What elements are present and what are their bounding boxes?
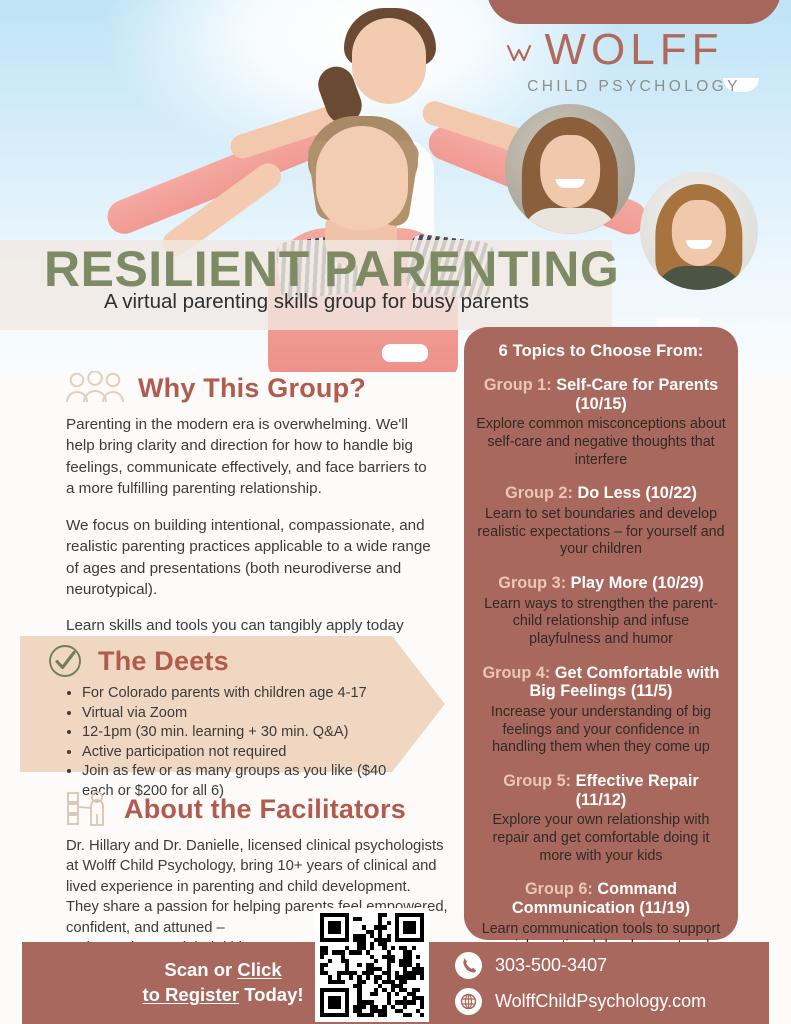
topic-name: Get Comfortable with Big Feelings (11/5) xyxy=(530,664,720,701)
checkmark-circle-icon xyxy=(46,642,84,680)
deets-list: For Colorado parents with children age 4… xyxy=(46,684,406,801)
avatar-shoulders xyxy=(522,208,618,234)
cta-line-2: to Register Today! xyxy=(128,982,318,1007)
topic-group-label: Group 2: xyxy=(505,484,573,502)
topic-description: Learn ways to strengthen the parent-chil… xyxy=(476,596,726,649)
topic-name: Do Less (10/22) xyxy=(577,484,696,502)
contact-website-row[interactable]: WolffChildPsychology.com xyxy=(455,988,706,1015)
facilitators-heading-row: About the Facilitators xyxy=(66,790,448,828)
child-head xyxy=(352,18,426,104)
topics-panel-title: 6 Topics to Choose From: xyxy=(464,342,738,361)
topic-name: Play More (10/29) xyxy=(571,574,704,592)
topic-group-label: Group 1: xyxy=(484,376,552,394)
flyer-page: WOLFF CHILD PSYCHOLOGY RESILIENT PARENTI… xyxy=(0,0,791,1024)
deets-heading-row: The Deets xyxy=(46,642,406,680)
topic-description: Explore your own relationship with repai… xyxy=(476,812,726,865)
deets-section: The Deets For Colorado parents with chil… xyxy=(46,642,406,801)
topic-heading: Group 3: Play More (10/29) xyxy=(476,574,726,593)
topic-name: Self-Care for Parents (10/15) xyxy=(556,376,718,413)
topic-description: Learn to set boundaries and develop real… xyxy=(476,506,726,559)
topic-heading: Group 2: Do Less (10/22) xyxy=(476,484,726,503)
facilitator-photo-danielle xyxy=(640,172,758,290)
page-subtitle: A virtual parenting skills group for bus… xyxy=(104,290,529,314)
list-item: Virtual via Zoom xyxy=(82,704,406,724)
topics-panel: 6 Topics to Choose From: Group 1: Self-C… xyxy=(464,327,738,940)
avatar-smile xyxy=(556,179,585,188)
topic-item-4[interactable]: Group 4: Get Comfortable with Big Feelin… xyxy=(464,664,738,757)
wolff-chevron-icon xyxy=(506,44,532,64)
cta-click-link[interactable]: Click xyxy=(237,959,281,980)
list-item: 12-1pm (30 min. learning + 30 min. Q&A) xyxy=(82,723,406,743)
topic-group-label: Group 6: xyxy=(525,880,593,898)
topic-item-5[interactable]: Group 5: Effective Repair (11/12) Explor… xyxy=(464,772,738,865)
avatar-face xyxy=(540,135,600,208)
facilitators-heading: About the Facilitators xyxy=(124,794,406,825)
topic-heading: Group 6: Command Communication (11/19) xyxy=(476,880,726,917)
why-body: Parenting in the modern era is overwhelm… xyxy=(66,414,432,658)
register-cta[interactable]: Scan or Click to Register Today! xyxy=(128,957,318,1007)
cta-scan-or: Scan or xyxy=(164,959,237,980)
topic-heading: Group 1: Self-Care for Parents (10/15) xyxy=(476,376,726,413)
topic-name: Effective Repair (11/12) xyxy=(576,772,699,809)
avatar-face xyxy=(672,200,726,266)
qr-code[interactable] xyxy=(315,908,429,1022)
why-paragraph-1: Parenting in the modern era is overwhelm… xyxy=(66,414,432,500)
mother-head xyxy=(316,126,408,230)
globe-icon xyxy=(455,988,482,1015)
cta-today: Today! xyxy=(239,984,303,1005)
why-heading-row: Why This Group? xyxy=(66,371,432,405)
topic-item-1[interactable]: Group 1: Self-Care for Parents (10/15) E… xyxy=(464,376,738,469)
logo-wordmark: WOLFF xyxy=(545,28,724,72)
phone-icon xyxy=(455,952,482,979)
list-item: For Colorado parents with children age 4… xyxy=(82,684,406,704)
topic-description: Increase your understanding of big feeli… xyxy=(476,704,726,757)
phone-number: 303-500-3407 xyxy=(495,955,607,976)
cta-register-link[interactable]: to Register xyxy=(142,984,239,1005)
wristwatch xyxy=(382,344,428,362)
page-title: RESILIENT PARENTING xyxy=(44,243,619,296)
topic-item-3[interactable]: Group 3: Play More (10/29) Learn ways to… xyxy=(464,574,738,649)
logo-tagline: CHILD PSYCHOLOGY xyxy=(500,78,768,96)
cta-line-1: Scan or Click xyxy=(128,957,318,982)
why-heading: Why This Group? xyxy=(138,373,366,404)
why-paragraph-2: We focus on building intentional, compas… xyxy=(66,515,432,601)
topic-heading: Group 5: Effective Repair (11/12) xyxy=(476,772,726,809)
list-item: Active participation not required xyxy=(82,743,406,763)
top-accent-shape xyxy=(487,0,781,24)
why-this-group-section: Why This Group? Parenting in the modern … xyxy=(66,371,432,658)
topic-group-label: Group 4: xyxy=(482,664,550,682)
contact-phone-row[interactable]: 303-500-3407 xyxy=(455,952,706,979)
group-of-people-icon xyxy=(66,371,124,405)
deets-heading: The Deets xyxy=(98,646,229,677)
facilitators-paragraph-1: Dr. Hillary and Dr. Danielle, licensed c… xyxy=(66,836,448,897)
brand-logo: WOLFF CHILD PSYCHOLOGY xyxy=(500,28,768,96)
presenter-flipchart-icon xyxy=(66,790,110,828)
topic-group-label: Group 3: xyxy=(498,574,566,592)
website-url: WolffChildPsychology.com xyxy=(495,991,706,1012)
contact-info: 303-500-3407 WolffChildPsychology.com xyxy=(455,952,706,1024)
qr-code-grid xyxy=(320,913,424,1017)
facilitator-photo-hillary xyxy=(505,104,635,234)
topic-description: Explore common misconceptions about self… xyxy=(476,416,726,469)
topic-heading: Group 4: Get Comfortable with Big Feelin… xyxy=(476,664,726,701)
topic-group-label: Group 5: xyxy=(503,772,571,790)
topic-item-2[interactable]: Group 2: Do Less (10/22) Learn to set bo… xyxy=(464,484,738,559)
